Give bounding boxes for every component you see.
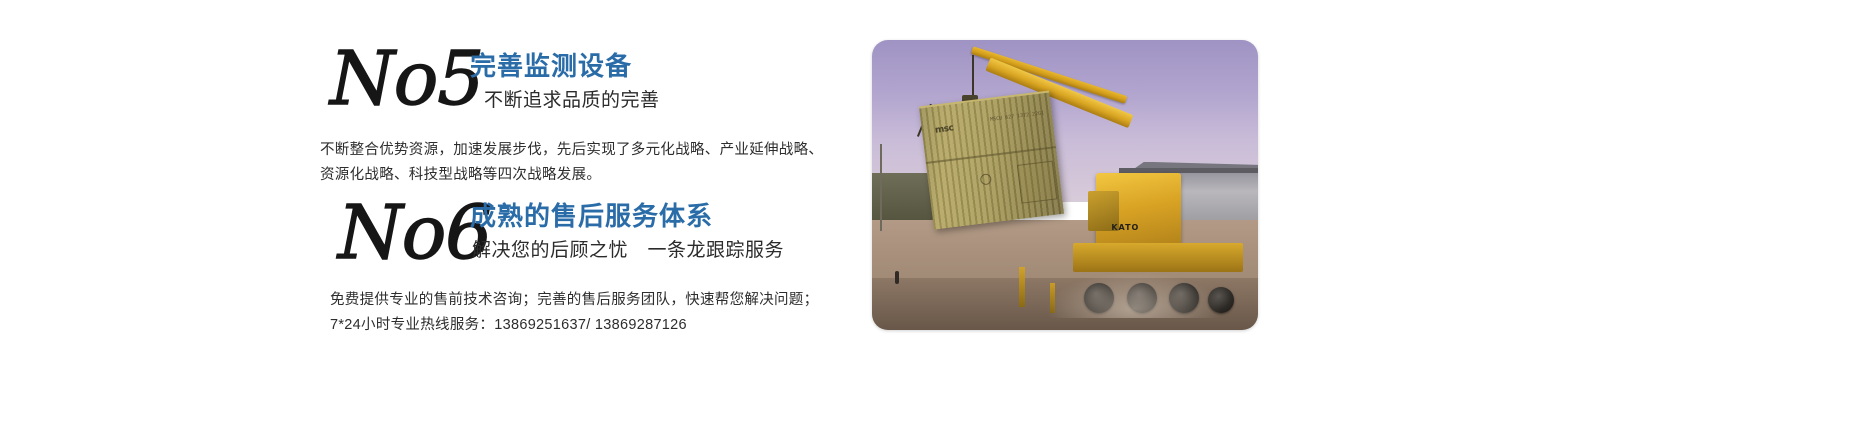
dust-haze (1046, 272, 1224, 318)
container-door-panel (1017, 161, 1058, 204)
feature-subtitle-no5: 不断追求品质的完善 (484, 88, 660, 114)
promo-banner: No5 完善监测设备 不断追求品质的完善 不断整合优势资源，加速发展步伐，先后实… (0, 0, 1862, 441)
feature-title-no5: 完善监测设备 (470, 50, 660, 82)
feature-number-no5: No5 (330, 42, 483, 116)
feature-body-no6: 免费提供专业的售前技术咨询；完善的售后服务团队，快速帮您解决问题； 7*24小时… (330, 288, 850, 338)
utility-pole (880, 144, 882, 231)
feature-block-no5: No5 完善监测设备 不断追求品质的完善 不断整合优势资源，加速发展步伐，先后实… (0, 42, 860, 124)
crane-cable (972, 55, 974, 101)
shipping-container: msc MSCU 627 1372 22G1 (919, 90, 1064, 229)
feature-header-no6: No6 成熟的售后服务体系 解决您的后顾之忧 一条龙跟踪服务 (0, 196, 860, 278)
feature-title-no6: 成熟的售后服务体系 (470, 200, 784, 232)
feature-body-no5: 不断整合优势资源，加速发展步伐，先后实现了多元化战略、产业延伸战略、 资源化战略… (320, 138, 840, 188)
feature-heading-group-no6: 成熟的售后服务体系 解决您的后顾之忧 一条龙跟踪服务 (470, 200, 784, 264)
crane-brand-label: KATO (1111, 223, 1139, 232)
feature-heading-group-no5: 完善监测设备 不断追求品质的完善 (470, 50, 660, 114)
crane-photo: msc MSCU 627 1372 22G1 KATO (872, 40, 1258, 330)
crane-photo-canvas: msc MSCU 627 1372 22G1 KATO (872, 40, 1258, 330)
crane-outrigger-front (1019, 267, 1025, 307)
worker-figure (895, 271, 899, 284)
feature-block-no6: No6 成熟的售后服务体系 解决您的后顾之忧 一条龙跟踪服务 免费提供专业的售前… (0, 196, 860, 278)
feature-body-line: 不断整合优势资源，加速发展步伐，先后实现了多元化战略、产业延伸战略、 (320, 138, 840, 163)
feature-number-no6: No6 (338, 196, 491, 270)
feature-body-line: 免费提供专业的售前技术咨询；完善的售后服务团队，快速帮您解决问题； (330, 288, 850, 313)
feature-subtitle-no6: 解决您的后顾之忧 一条龙跟踪服务 (472, 238, 784, 264)
feature-text-column: No5 完善监测设备 不断追求品质的完善 不断整合优势资源，加速发展步伐，先后实… (0, 0, 860, 441)
feature-header-no5: No5 完善监测设备 不断追求品质的完善 (0, 42, 860, 124)
feature-body-line: 7*24小时专业热线服务：13869251637/ 13869287126 (330, 313, 850, 338)
crane-chassis (1073, 243, 1243, 272)
feature-body-line: 资源化战略、科技型战略等四次战略发展。 (320, 163, 840, 188)
